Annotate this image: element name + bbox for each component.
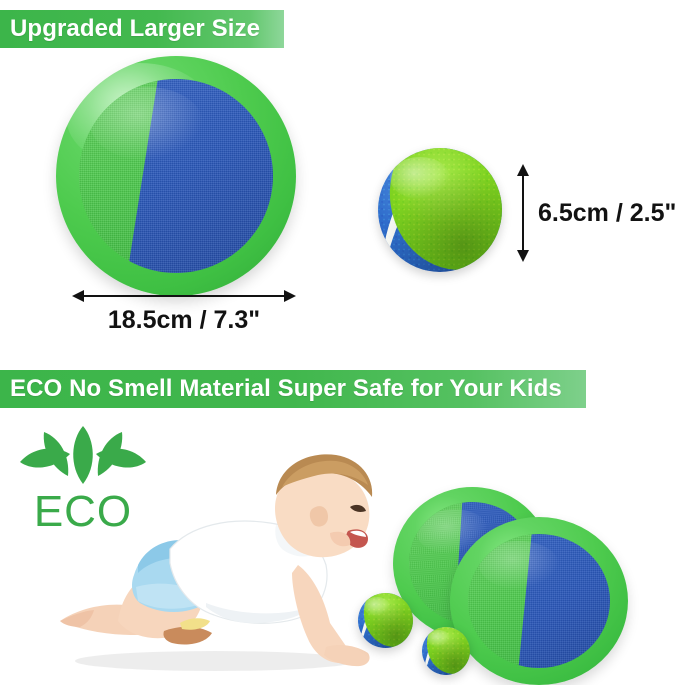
ball-body: [378, 148, 502, 272]
banner-upgraded-size: Upgraded Larger Size: [0, 10, 284, 48]
dimension-arrow-width: [72, 290, 296, 302]
dimension-label-width: 18.5cm / 7.3": [72, 306, 296, 335]
dimension-label-height: 6.5cm / 2.5": [538, 199, 676, 228]
arrow-left-head-icon: [72, 290, 84, 302]
ball-small-second-body: [422, 627, 470, 675]
paddle-front-face: [468, 534, 610, 668]
banner-eco-material-label: ECO No Smell Material Super Safe for You…: [10, 375, 562, 403]
baby-floor-shadow: [75, 651, 355, 671]
ball-highlight: [390, 157, 450, 199]
paddle-face-highlight: [90, 87, 203, 161]
paddle-front-highlight: [479, 541, 559, 589]
ball-small-second-highlight: [427, 630, 450, 646]
ball-large-image: [378, 148, 502, 272]
paddle-front-image: [450, 517, 628, 685]
dimension-line-vertical: [522, 176, 524, 250]
arrow-right-head-icon: [284, 290, 296, 302]
baby-photo: [30, 425, 400, 675]
banner-eco-material: ECO No Smell Material Super Safe for You…: [0, 370, 586, 408]
paddle-large-image: [56, 56, 296, 296]
dimension-arrow-height: [517, 164, 529, 262]
arrow-down-head-icon: [517, 250, 529, 262]
ball-small-second: [422, 627, 470, 675]
ball-small-first-body: [358, 593, 413, 648]
ball-small-first: [358, 593, 413, 648]
banner-upgraded-size-label: Upgraded Larger Size: [10, 15, 260, 43]
product-set-image: [405, 485, 679, 681]
arrow-up-head-icon: [517, 164, 529, 176]
paddle-velcro-face: [79, 79, 273, 273]
dimension-line-horizontal: [84, 295, 284, 297]
ball-small-first-highlight: [364, 597, 390, 616]
